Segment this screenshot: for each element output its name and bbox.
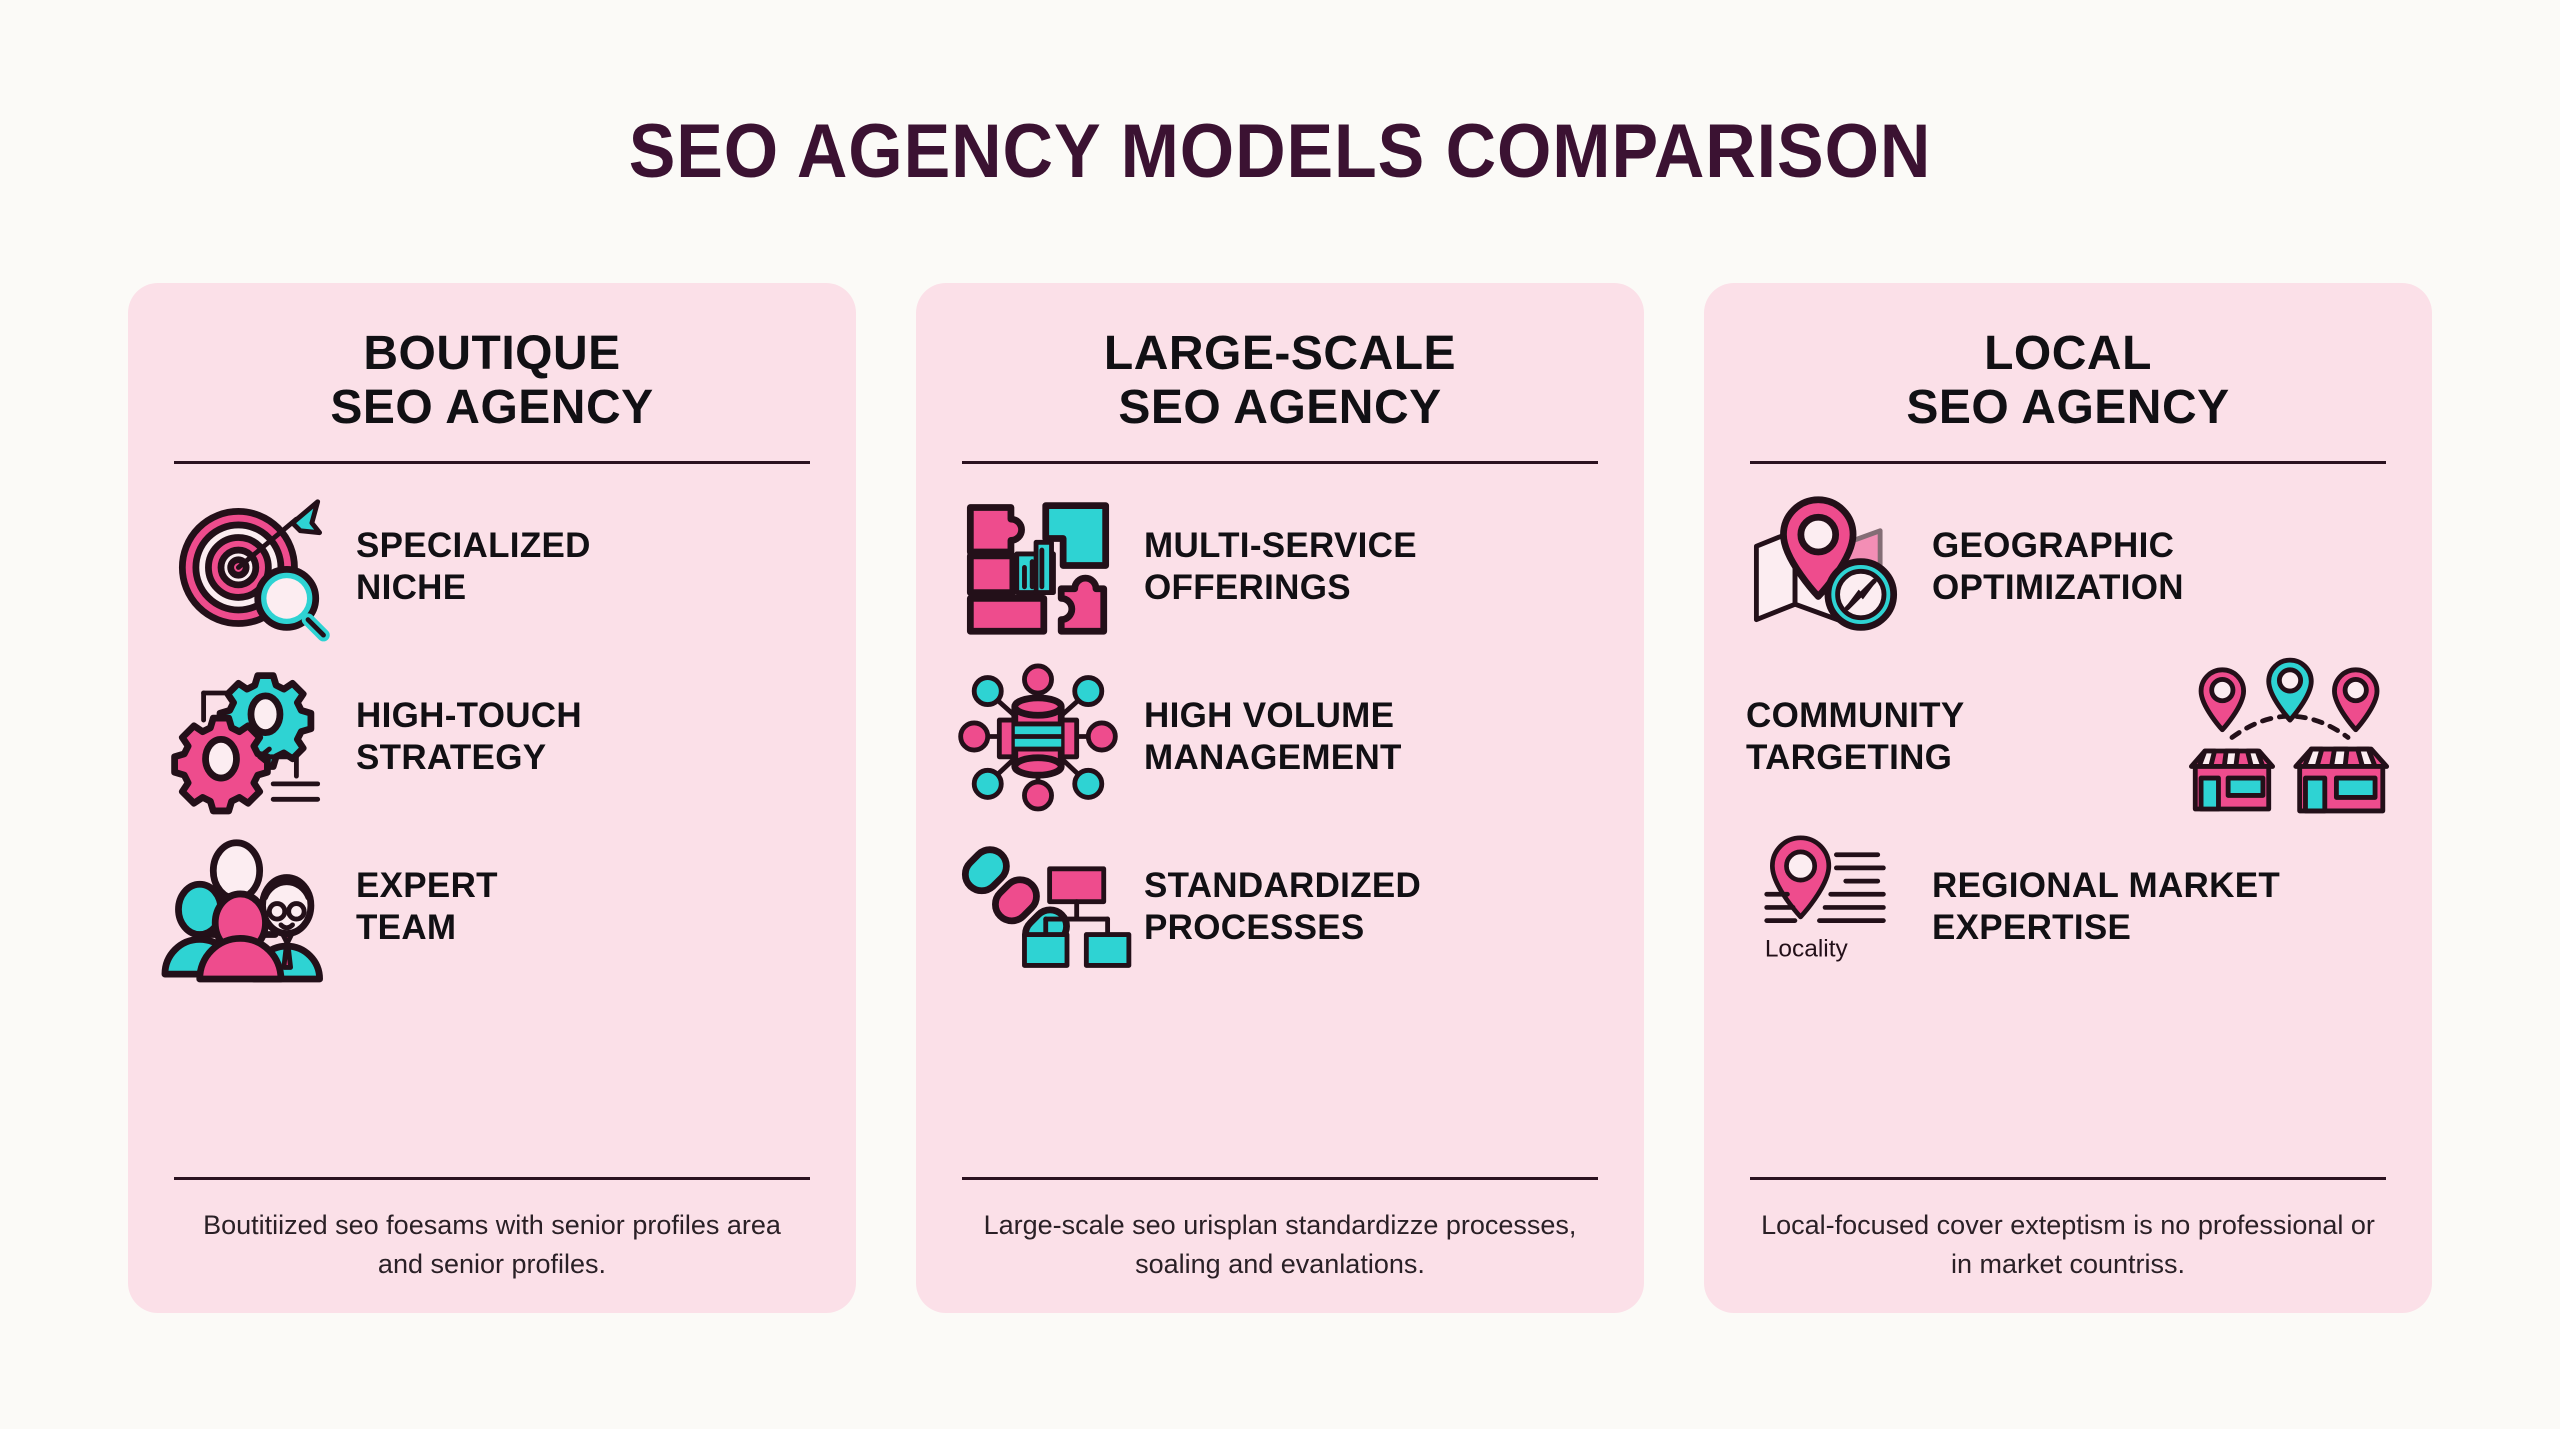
feature-geographic-optimization[interactable]: GEOGRAPHIC OPTIMIZATION [1746,482,2390,652]
card-local-seo-agency[interactable]: LOCAL SEO AGENCY [1704,283,2432,1313]
feature-label-line2: TEAM [356,907,498,949]
feature-label-line1: STANDARDIZED [1144,865,1421,907]
card-title-line2: SEO AGENCY [170,381,814,435]
card-boutique-seo-agency[interactable]: BOUTIQUE SEO AGENCY [128,283,856,1313]
infographic-page: SEO AGENCY MODELS COMPARISON BOUTIQUE SE… [0,0,2560,1429]
feature-high-volume-management[interactable]: HIGH VOLUME MANAGEMENT [958,652,1602,822]
locality-document-icon: Locality [1746,834,1906,979]
card-title-line2: SEO AGENCY [1746,381,2390,435]
card-footer: Local-focused cover exteptism is no prof… [1746,1206,2390,1283]
footer-divider [1750,1177,2386,1180]
feature-community-targeting[interactable]: COMMUNITY TARGETING [1746,652,2390,822]
feature-label-line1: GEOGRAPHIC [1932,525,2184,567]
target-magnifier-icon [170,494,330,639]
cards-container: BOUTIQUE SEO AGENCY [128,283,2432,1313]
feature-label-line2: MANAGEMENT [1144,737,1402,779]
feature-label-line1: REGIONAL MARKET [1932,865,2280,907]
feature-specialized-niche[interactable]: SPECIALIZED NICHE [170,482,814,652]
footer-divider [962,1177,1598,1180]
feature-regional-market-expertise[interactable]: Locality REGIONAL MARKET EXPERTISE [1746,822,2390,992]
card-title-line1: BOUTIQUE [170,327,814,381]
card-title: LARGE-SCALE SEO AGENCY [958,327,1602,435]
feature-label-line1: COMMUNITY [1746,695,1965,737]
chain-hierarchy-icon [958,834,1118,979]
feature-list: GEOGRAPHIC OPTIMIZATION COMMUNITY TARGET… [1746,464,2390,1178]
feature-label: STANDARDIZED PROCESSES [1144,865,1421,949]
feature-label-line2: STRATEGY [356,737,582,779]
card-large-scale-seo-agency[interactable]: LARGE-SCALE SEO AGENCY [916,283,1644,1313]
feature-label-line1: HIGH VOLUME [1144,695,1402,737]
feature-high-touch-strategy[interactable]: HIGH-TOUCH STRATEGY [170,652,814,822]
feature-list: SPECIALIZED NICHE [170,464,814,1178]
database-network-icon [958,664,1118,809]
card-title-line1: LARGE-SCALE [958,327,1602,381]
feature-standardized-processes[interactable]: STANDARDIZED PROCESSES [958,822,1602,992]
map-pin-compass-icon [1746,494,1906,639]
expert-team-icon [170,834,330,979]
card-title-line2: SEO AGENCY [958,381,1602,435]
feature-label-line1: HIGH-TOUCH [356,695,582,737]
card-title: LOCAL SEO AGENCY [1746,327,2390,435]
feature-label: MULTI-SERVICE OFFERINGS [1144,525,1417,609]
feature-label-line2: TARGETING [1746,737,1965,779]
feature-label-line2: NICHE [356,567,591,609]
feature-multi-service-offerings[interactable]: MULTI-SERVICE OFFERINGS [958,482,1602,652]
card-title-line1: LOCAL [1746,327,2390,381]
feature-label-line2: EXPERTISE [1932,907,2280,949]
gears-workflow-icon [170,664,330,809]
feature-label-line2: OFFERINGS [1144,567,1417,609]
footer-divider [174,1177,810,1180]
feature-label: HIGH VOLUME MANAGEMENT [1144,695,1402,779]
page-title: SEO AGENCY MODELS COMPARISON [102,108,2457,195]
storefronts-pins-icon [2190,664,2390,809]
card-footer: Boutitiized seo foesams with senior prof… [170,1206,814,1283]
card-footer: Large-scale seo urisplan standardizze pr… [958,1206,1602,1283]
card-title: BOUTIQUE SEO AGENCY [170,327,814,435]
card-footer-line1: Boutitiized seo foesams with senior [203,1210,625,1240]
feature-label: EXPERT TEAM [356,865,498,949]
card-footer-line1: Local-focused cover exteptism is no [1761,1210,2190,1240]
feature-label: COMMUNITY TARGETING [1746,695,1965,779]
feature-list: MULTI-SERVICE OFFERINGS [958,464,1602,1178]
feature-label-line1: EXPERT [356,865,498,907]
feature-label: GEOGRAPHIC OPTIMIZATION [1932,525,2184,609]
feature-expert-team[interactable]: EXPERT TEAM [170,822,814,992]
feature-label-line1: SPECIALIZED [356,525,591,567]
feature-label-line2: PROCESSES [1144,907,1421,949]
feature-label: HIGH-TOUCH STRATEGY [356,695,582,779]
feature-label-line2: OPTIMIZATION [1932,567,2184,609]
card-footer-line1: Large-scale seo urisplan standardizze [984,1210,1439,1240]
feature-label: REGIONAL MARKET EXPERTISE [1932,865,2280,949]
puzzle-blocks-chart-icon [958,494,1118,639]
feature-label: SPECIALIZED NICHE [356,525,591,609]
locality-caption: Locality [1765,935,1849,962]
feature-label-line1: MULTI-SERVICE [1144,525,1417,567]
